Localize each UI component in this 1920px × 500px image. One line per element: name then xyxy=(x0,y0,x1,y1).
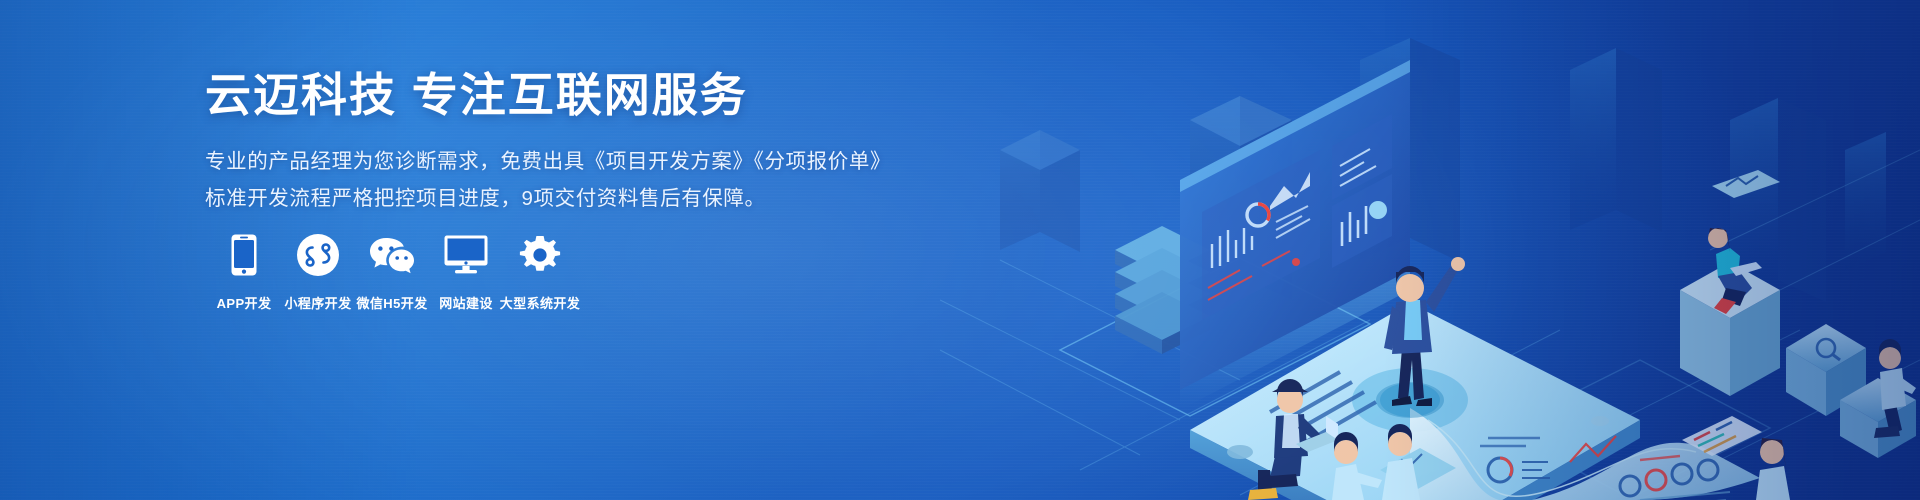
service-label: 网站建设 xyxy=(439,293,493,312)
service-item-app[interactable]: APP开发 xyxy=(207,232,281,312)
service-item-wechat-h5[interactable]: 微信H5开发 xyxy=(355,232,429,312)
wechat-miniprogram-icon xyxy=(297,232,339,278)
gear-icon xyxy=(519,232,561,278)
subtitle-line-2: 标准开发流程严格把控项目进度，9项交付资料售后有保障。 xyxy=(205,181,925,217)
service-label: APP开发 xyxy=(217,293,272,312)
banner-subtitle: 专业的产品经理为您诊断需求，免费出具《项目开发方案》《分项报价单》 标准开发流程… xyxy=(205,144,925,217)
service-label: 大型系统开发 xyxy=(500,293,580,312)
banner-copy: 云迈科技 专注互联网服务 专业的产品经理为您诊断需求，免费出具《项目开发方案》《… xyxy=(205,68,925,217)
monitor-icon xyxy=(444,232,488,278)
promo-banner: 云迈科技 专注互联网服务 专业的产品经理为您诊断需求，免费出具《项目开发方案》《… xyxy=(0,0,1920,500)
isometric-illustration xyxy=(940,0,1920,500)
page-title: 云迈科技 专注互联网服务 xyxy=(205,68,925,122)
subtitle-line-1: 专业的产品经理为您诊断需求，免费出具《项目开发方案》《分项报价单》 xyxy=(205,144,925,180)
service-label: 微信H5开发 xyxy=(356,293,427,312)
person-bottom-right xyxy=(1756,438,1790,500)
mobile-phone-icon xyxy=(231,232,257,278)
wechat-icon xyxy=(368,232,416,278)
service-item-large-system[interactable]: 大型系统开发 xyxy=(503,232,577,312)
service-label: 小程序开发 xyxy=(284,293,351,312)
service-list: APP开发 小程序开发 xyxy=(207,232,577,312)
service-item-website[interactable]: 网站建设 xyxy=(429,232,503,312)
service-item-miniprogram[interactable]: 小程序开发 xyxy=(281,232,355,312)
